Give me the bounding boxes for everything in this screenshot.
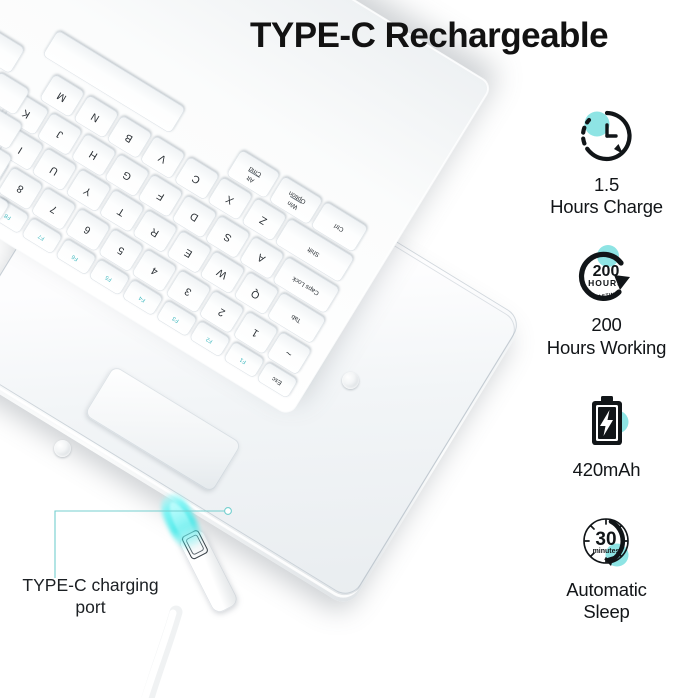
- feature-working-time: 200 HOURS LASTING 200 Hours Working: [534, 240, 679, 358]
- svg-text:HOURS: HOURS: [588, 278, 624, 288]
- clock-30-minutes-icon: 30 minutes: [534, 505, 679, 579]
- feature-battery-capacity: 420mAh: [534, 385, 679, 481]
- battery-lightning-icon: [534, 385, 679, 459]
- svg-text:30: 30: [595, 529, 616, 550]
- circular-arrow-200-hours-icon: 200 HOURS LASTING: [534, 240, 679, 314]
- product-image-canvas: EscF1F2F3F4F5F6F7F8~123456789TabQWERTYUI…: [0, 0, 679, 698]
- svg-text:minutes: minutes: [592, 548, 619, 555]
- feature-label: Automatic Sleep: [534, 579, 679, 623]
- feature-auto-sleep: 30 minutes Automatic Sleep: [534, 505, 679, 623]
- feature-label: 200 Hours Working: [534, 314, 679, 358]
- callout-label: TYPE-C charging port: [8, 574, 173, 619]
- feature-label: 1.5 Hours Charge: [534, 174, 679, 218]
- page-title: TYPE-C Rechargeable: [250, 16, 608, 56]
- feature-charge-time: 1.5 Hours Charge: [534, 100, 679, 218]
- clock-dashed-arrow-icon: [534, 100, 679, 174]
- feature-label: 420mAh: [534, 459, 679, 481]
- feature-list: 1.5 Hours Charge 200 HOURS LASTING 200 H…: [534, 100, 679, 623]
